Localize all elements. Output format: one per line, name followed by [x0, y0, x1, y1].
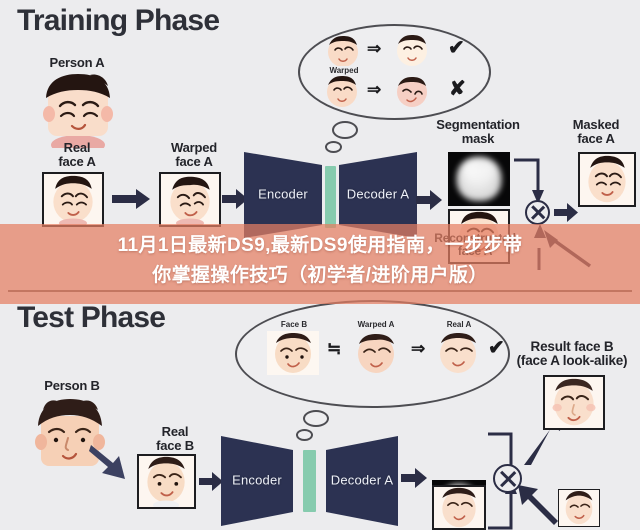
bubble-tail-dot-small-test — [296, 429, 313, 441]
person-b-label: Person B — [24, 379, 120, 393]
article-title-banner: 11月1日最新DS9,最新DS9使用指南，一步步带 你掌握操作技巧（初学者/进阶… — [0, 224, 640, 304]
bubble-real-a-thumbnail — [433, 331, 483, 375]
test-thought-bubble: Face B ≒ Warped A ⇒ — [235, 300, 510, 408]
warped-face-a-label: Warped face A — [148, 141, 240, 168]
bubble-real-a-caption: Real A — [427, 320, 491, 329]
training-phase-title: Training Phase — [17, 4, 219, 38]
bubble-check-symbol-test: ✔ — [488, 338, 505, 358]
bubble-warped-a-caption: Warped A — [341, 320, 411, 329]
bubble-check-row1: ✔ — [448, 38, 465, 58]
bubble-warped-face-row1 — [323, 34, 361, 67]
result-face-b-label: Result face B (face A look-alike) — [504, 340, 640, 368]
masked-face-a-thumbnail — [578, 152, 636, 207]
person-a-portrait — [38, 72, 118, 148]
segmentation-mask-image — [448, 152, 510, 206]
bubble-warped-caption: Warped — [318, 66, 370, 75]
article-title-text: 11月1日最新DS9,最新DS9使用指南，一步步带 你掌握操作技巧（初学者/进阶… — [0, 231, 640, 291]
arrow-decoder-to-outputs-test — [401, 468, 427, 488]
warped-face-a-thumbnail — [159, 172, 221, 227]
bubble-implies-row1: ⇒ — [367, 40, 381, 57]
latent-space-bar-test — [303, 450, 316, 512]
decoder-block-test: Decoder A — [326, 436, 398, 526]
real-face-a-thumbnail — [42, 172, 104, 227]
diagram-canvas: Training Phase Person A Real face A — [0, 0, 640, 530]
bubble-tail-dot-large-test — [303, 410, 329, 427]
bubble-cross-row2: ✘ — [449, 79, 466, 99]
real-face-a-label: Real face A — [32, 141, 122, 168]
bubble-approx-symbol: ≒ — [327, 340, 341, 357]
real-face-b-thumbnail — [137, 454, 196, 509]
test-phase-title: Test Phase — [17, 301, 165, 335]
arrow-multiply-to-masked-face — [554, 203, 578, 222]
bubble-implies-row2: ⇒ — [367, 81, 381, 98]
encoder-block-test: Encoder — [221, 436, 293, 526]
connector-mask-to-multiply — [512, 158, 546, 204]
real-face-b-label: Real face B — [130, 425, 220, 452]
segmentation-mask-label: Segmentation mask — [428, 118, 528, 145]
arrow-person-b-to-real-face-b — [89, 443, 131, 483]
article-title-line-1: 11月1日最新DS9,最新DS9使用指南，一步步带 — [118, 235, 523, 256]
bubble-result-face-row1 — [393, 34, 431, 67]
side-face-thumbnail-test — [558, 489, 600, 527]
training-thought-bubble: ⇒ ✔ Warped ⇒ — [298, 24, 491, 120]
result-face-b-thumbnail — [543, 375, 605, 430]
article-title-line-2: 你掌握操作技巧（初学者/进阶用户版） — [152, 265, 487, 286]
bubble-bad-face-row2 — [393, 75, 431, 108]
bubble-tail-dot-small-training — [325, 141, 342, 153]
bubble-warped-a-thumbnail — [351, 331, 401, 375]
bubble-face-b-caption: Face B — [263, 320, 325, 329]
bubble-face-b-thumbnail — [267, 331, 319, 375]
bubble-warped-face-row2 — [323, 75, 361, 108]
banner-divider — [8, 290, 632, 292]
latent-space-bar-training — [325, 166, 336, 228]
bubble-implies-symbol-test: ⇒ — [411, 340, 425, 357]
person-a-label: Person A — [34, 56, 120, 70]
bubble-tail-dot-large-training — [332, 121, 358, 139]
arrow-side-face-to-multiply — [516, 483, 562, 525]
arrow-real-to-warped-a — [112, 189, 150, 209]
masked-face-a-label: Masked face A — [556, 118, 636, 145]
reconstructed-face-thumbnail-test — [432, 485, 486, 530]
arrow-decoder-to-outputs-training — [416, 190, 442, 210]
arrow-real-face-b-to-encoder — [199, 472, 223, 491]
